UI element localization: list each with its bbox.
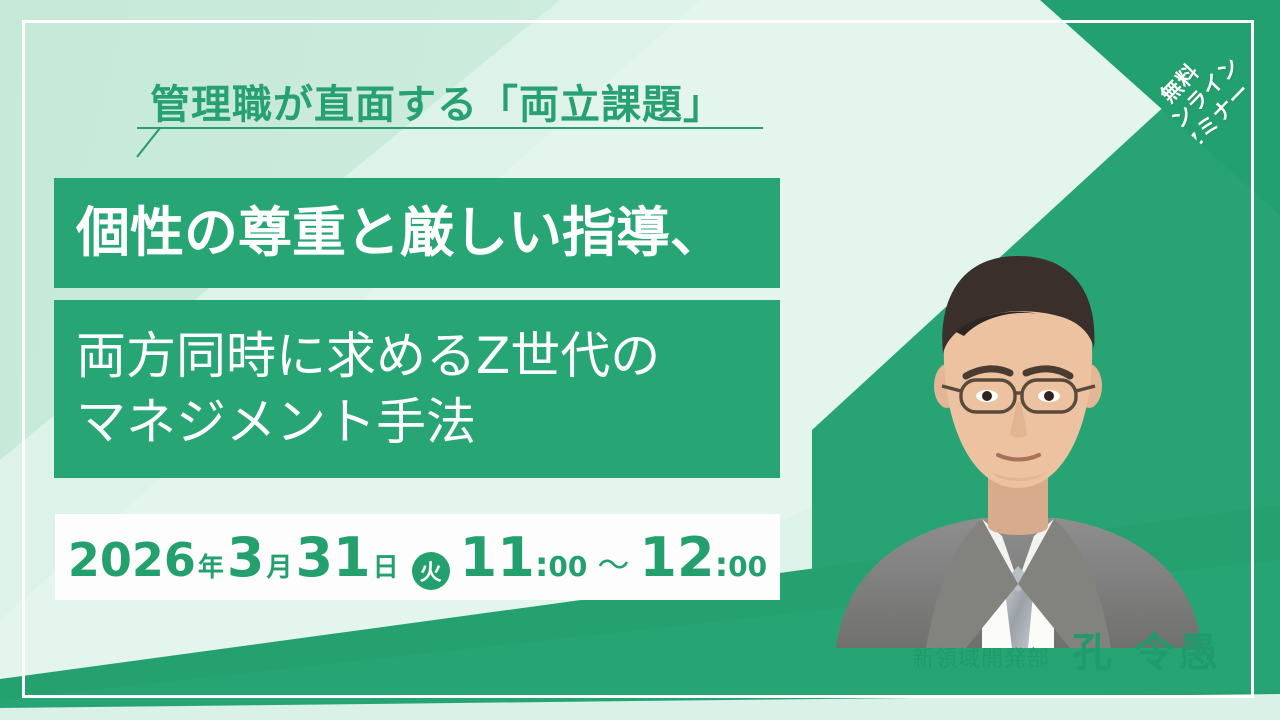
headline-band-primary: 個性の尊重と厳しい指導、 <box>54 178 780 288</box>
speaker-credit: 新領域開発部 孔 令愚 <box>912 620 1222 678</box>
speaker-name: 孔 令愚 <box>1072 620 1222 678</box>
schedule-month-unit: 月 <box>266 547 292 584</box>
schedule-year: 2026 <box>68 533 196 587</box>
speaker-department: 新領域開発部 <box>912 641 1050 673</box>
headline-line-1: 個性の尊重と厳しい指導、 <box>76 205 780 262</box>
eyebrow-underline-tail-icon <box>130 127 162 159</box>
schedule-start-hour: 11 <box>460 526 535 589</box>
headline-line-2: 両方同時に求めるZ世代の <box>76 323 780 389</box>
schedule-start-minute: 00 <box>548 550 587 583</box>
seminar-poster: 無料 オンライン セミナー 管理職が直面する「両立課題」 個性の尊重と厳しい指導… <box>0 0 1280 720</box>
schedule-end-hour: 12 <box>639 526 714 589</box>
eyebrow-text: 管理職が直面する「両立課題」 <box>150 72 724 130</box>
weekday-badge: 火 <box>412 552 450 590</box>
speaker-portrait <box>806 236 1226 648</box>
schedule-day-unit: 日 <box>373 547 399 584</box>
schedule-day: 31 <box>295 526 370 589</box>
headline-band-secondary: 両方同時に求めるZ世代の マネジメント手法 <box>54 300 780 478</box>
schedule-range-separator: ～ <box>597 540 629 586</box>
schedule-end-colon: : <box>715 545 729 585</box>
schedule-text: 2026 年 3 月 31 日 火 11 : 00 ～ 12 : 00 <box>68 526 767 589</box>
headline-line-3: マネジメント手法 <box>76 389 780 455</box>
schedule-end-minute: 00 <box>728 550 767 583</box>
eyebrow-underline <box>137 127 763 129</box>
schedule-box: 2026 年 3 月 31 日 火 11 : 00 ～ 12 : 00 <box>55 514 780 600</box>
schedule-month: 3 <box>227 526 265 589</box>
schedule-year-unit: 年 <box>198 547 224 584</box>
schedule-start-colon: : <box>535 545 549 585</box>
